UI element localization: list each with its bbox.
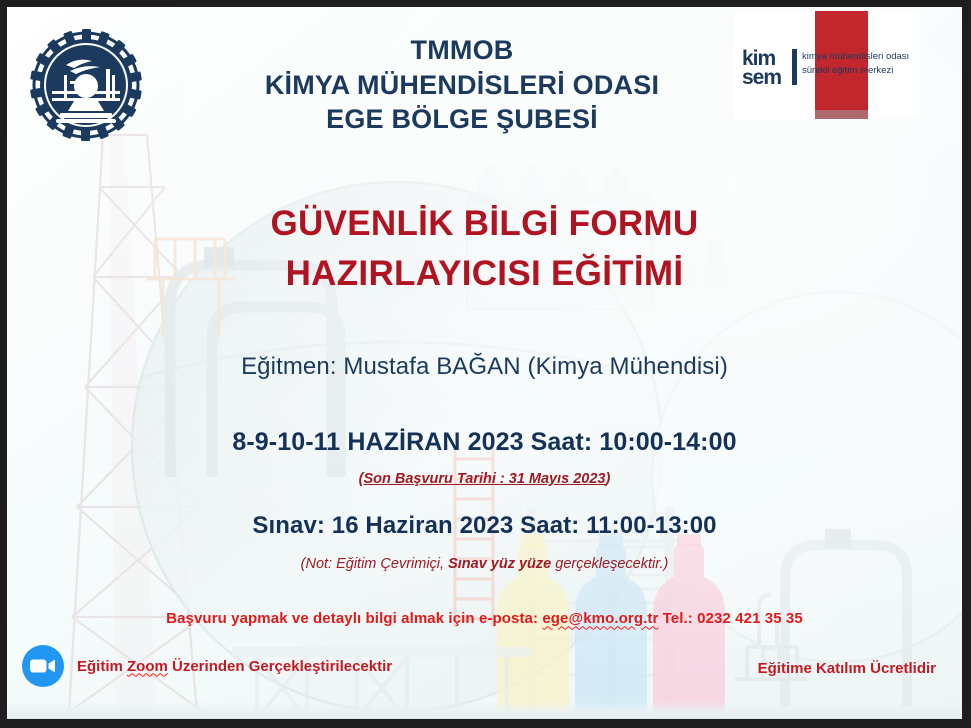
contact-phone: Tel.: 0232 421 35 35 (658, 610, 802, 627)
note-prefix: (Not: Eğitim Çevrimiçi, (301, 556, 448, 572)
format-note-line: (Not: Eğitim Çevrimiçi, Sınav yüz yüze g… (7, 556, 962, 572)
fee-notice: Eğitime Katılım Ücretlidir (758, 660, 936, 677)
slide-canvas: TMMOB KİMYA MÜHENDİSLERİ ODASI EGE BÖLGE… (7, 7, 962, 719)
header: TMMOB KİMYA MÜHENDİSLERİ ODASI EGE BÖLGE… (7, 7, 962, 147)
poster-frame: TMMOB KİMYA MÜHENDİSLERİ ODASI EGE BÖLGE… (0, 0, 971, 728)
deadline-text: Son Başvuru Tarihi : 31 Mayıs 2023 (363, 471, 605, 487)
application-deadline-line: (Son Başvuru Tarihi : 31 Mayıs 2023) (7, 471, 962, 487)
event-title: GÜVENLİK BİLGİ FORMU HAZIRLAYICISI EĞİTİ… (7, 199, 962, 298)
exam-date-line: Sınav: 16 Haziran 2023 Saat: 11:00-13:00 (7, 512, 962, 540)
note-bold: Sınav yüz yüze (448, 556, 551, 572)
kimsem-subtitle: kimya mühendisleri odası sürekli eğitim … (802, 50, 909, 78)
organization-title: TMMOB KİMYA MÜHENDİSLERİ ODASI EGE BÖLGE… (182, 33, 742, 137)
zoom-text-word: Zoom (127, 658, 168, 675)
note-suffix: gerçekleşecektir.) (551, 556, 668, 572)
main-content: GÜVENLİK BİLGİ FORMU HAZIRLAYICISI EĞİTİ… (7, 157, 962, 627)
deadline-close-paren: ) (606, 471, 611, 487)
kimsem-sub-line2: sürekli eğitim merkezi (802, 64, 909, 78)
course-dates-line: 8-9-10-11 HAZİRAN 2023 Saat: 10:00-14:00 (7, 428, 962, 457)
org-title-line2: KİMYA MÜHENDİSLERİ ODASI (182, 68, 742, 103)
footer: Eğitim Zoom Üzerinden Gerçekleştirilecek… (7, 633, 962, 719)
contact-prefix: Başvuru yapmak ve detaylı bilgi almak iç… (166, 610, 542, 627)
kimsem-word-line2: sem (742, 68, 781, 87)
zoom-platform-text: Eğitim Zoom Üzerinden Gerçekleştirilecek… (77, 658, 392, 675)
org-title-line3: EGE BÖLGE ŞUBESİ (182, 102, 742, 137)
event-title-line1: GÜVENLİK BİLGİ FORMU (7, 199, 962, 249)
tmmob-gear-logo-icon (30, 29, 142, 141)
zoom-text-suffix: Üzerinden Gerçekleştirilecektir (168, 658, 392, 675)
kimsem-logo: kim sem kimya mühendisleri odası sürekli… (734, 11, 920, 119)
zoom-text-prefix: Eğitim (77, 658, 127, 675)
event-title-line2: HAZIRLAYICISI EĞİTİMİ (7, 249, 962, 299)
kimsem-red-bar-shadow (815, 110, 868, 119)
kimsem-divider (792, 49, 797, 85)
contact-email[interactable]: ege@kmo.org.tr (542, 610, 658, 627)
org-title-line1: TMMOB (182, 33, 742, 68)
contact-line: Başvuru yapmak ve detaylı bilgi almak iç… (7, 610, 962, 627)
zoom-platform-badge: Eğitim Zoom Üzerinden Gerçekleştirilecek… (22, 645, 392, 687)
kimsem-wordmark: kim sem (742, 49, 781, 88)
zoom-video-camera-icon (22, 645, 64, 687)
instructor-line: Eğitmen: Mustafa BAĞAN (Kimya Mühendisi) (7, 353, 962, 381)
kimsem-sub-line1: kimya mühendisleri odası (802, 50, 909, 64)
